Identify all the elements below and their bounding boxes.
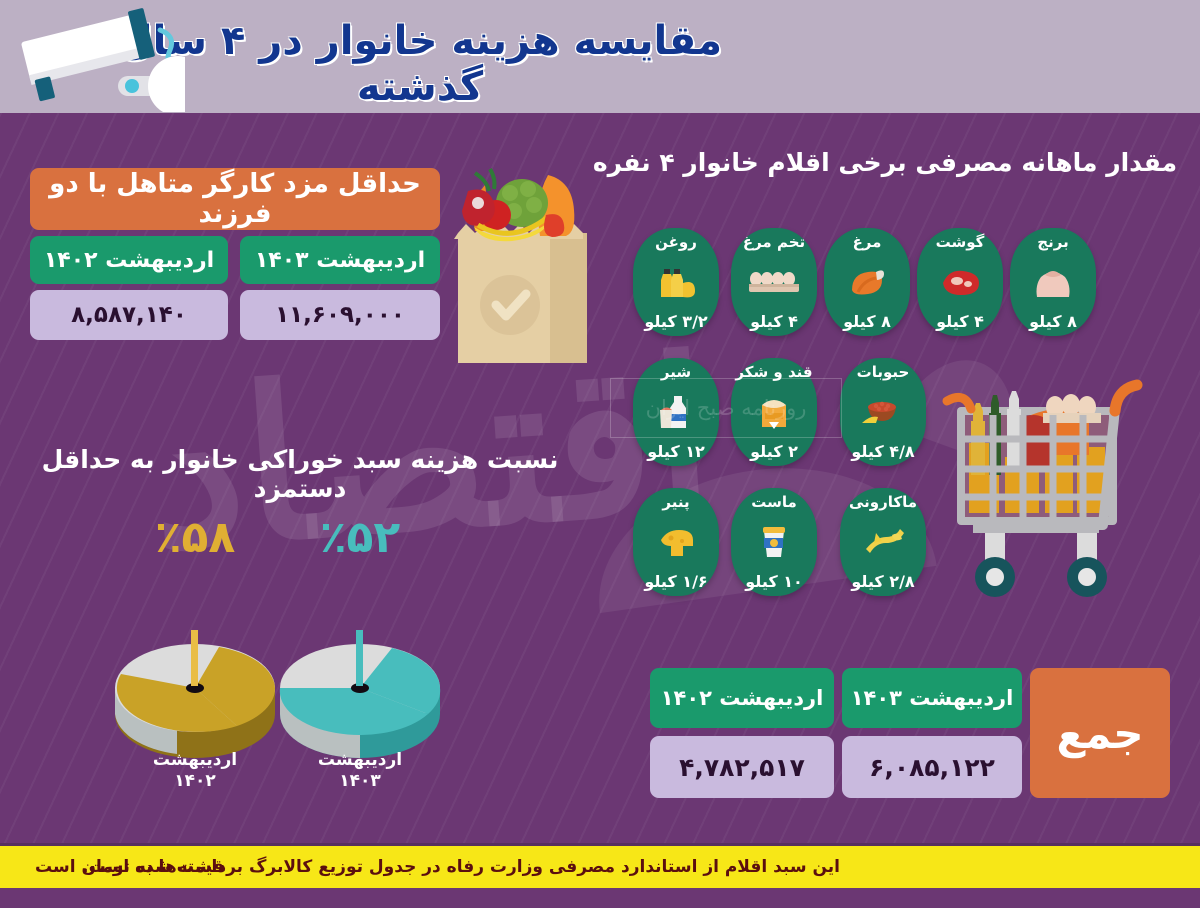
item-bubble-rice: برنج ۸ کیلو [1010,228,1096,336]
item-name: پنیر [662,495,689,510]
ratio-section-title: نسبت هزینه سبد خوراکی خانوار به حداقل دس… [20,445,580,503]
item-bubble-yogurt: ماست ۱۰ کیلو [731,488,817,596]
item-name: ماست [751,495,797,510]
totals-value-1403: ۶,۰۸۵,۱۲۲ [842,736,1022,798]
minimum-wage-panel: حداقل مزد کارگر متاهل با دو فرزند اردیبه… [30,168,440,348]
pie-label-month: اردیبهشت [318,750,402,770]
egg-carton-icon [733,250,815,314]
item-bubble-sugar: قند و شکر ۲ کیلو [731,358,817,466]
security-camera-icon [10,2,185,112]
item-qty: ۱/۶ کیلو [644,574,707,590]
pie-graphic-1403 [272,630,448,760]
totals-month-1402: اردیبهشت ۱۴۰۲ [650,668,834,728]
red-meat-icon [919,250,1001,314]
item-name: ماکارونی [849,495,917,510]
footer-currency-note: قیمت‌ها به تومان است [35,857,224,877]
item-qty: ۴ کیلو [750,314,798,330]
item-name: روغن [655,235,697,250]
cheese-icon [635,510,717,574]
pasta-icon [842,510,924,574]
totals-title: جمع [1030,668,1170,798]
wage-value-1402: ۸,۵۸۷,۱۴۰ [30,290,228,340]
grocery-bag-illustration [430,155,615,370]
item-qty: ۴/۸ کیلو [851,444,914,460]
items-section-title: مقدار ماهانه مصرفی برخی اقلام خانوار ۴ ن… [590,148,1180,177]
cooking-oil-icon [635,250,717,314]
wage-value-1403: ۱۱,۶۰۹,۰۰۰ [240,290,440,340]
pie-label-year: ۱۴۰۳ [339,771,381,791]
item-qty: ۳/۲ کیلو [644,314,707,330]
pie-graphic-1402 [107,630,283,760]
rice-sack-icon [1012,250,1094,314]
totals-value-1402: ۴,۷۸۲,۵۱۷ [650,736,834,798]
footer-bar: این سبد اقلام از استاندارد مصرفی وزارت ر… [0,843,1200,894]
wage-month-1402: اردیبهشت ۱۴۰۲ [30,236,228,284]
totals-month-1403: اردیبهشت ۱۴۰۳ [842,668,1022,728]
pie-label-1402: اردیبهشت ۱۴۰۲ [95,750,295,793]
item-name: برنج [1037,235,1068,250]
wage-panel-title: حداقل مزد کارگر متاهل با دو فرزند [30,168,440,230]
item-qty: ۸ کیلو [843,314,891,330]
pie-label-year: ۱۴۰۲ [174,771,216,791]
item-bubble-pasta: ماکارونی ۲/۸ کیلو [840,488,926,596]
item-bubble-oil: روغن ۳/۲ کیلو [633,228,719,336]
item-name: قند و شکر [735,365,812,380]
chicken-icon [826,250,908,314]
item-bubble-meat: گوشت ۴ کیلو [917,228,1003,336]
page-title: مقایسه هزینه خانوار در ۴ سال گذشته [110,18,730,110]
item-name: حبوبات [857,365,910,380]
yogurt-cup-icon [733,510,815,574]
footer-bottom-strip [0,888,1200,908]
pie-chart-1402: ٪۵۸ اردیبهشت ۱۴۰۲ [95,512,295,802]
item-name: مرغ [853,235,882,250]
item-qty: ۱۲ کیلو [647,444,705,460]
shopping-cart-illustration [935,365,1160,605]
item-qty: ۲ کیلو [750,444,798,460]
item-bubble-legumes: حبوبات ۴/۸ کیلو [840,358,926,466]
item-bubble-chicken: مرغ ۸ کیلو [824,228,910,336]
pie-label-month: اردیبهشت [153,750,237,770]
page-header: مقایسه هزینه خانوار در ۴ سال گذشته [0,0,1200,117]
item-name: گوشت [936,235,985,250]
item-bubble-milk: شیر ۱۲ کیلو [633,358,719,466]
item-bubble-cheese: پنیر ۱/۶ کیلو [633,488,719,596]
item-name: تخم مرغ [743,235,805,250]
item-name: شیر [661,365,691,380]
legumes-bowl-icon [842,380,924,444]
item-qty: ۸ کیلو [1029,314,1077,330]
sugar-bag-icon [733,380,815,444]
item-qty: ۱۰ کیلو [745,574,803,590]
infographic-canvas: مقایسه هزینه خانوار در ۴ سال گذشته اقتصا… [0,0,1200,908]
item-bubble-eggs: تخم مرغ ۴ کیلو [731,228,817,336]
wage-month-1403: اردیبهشت ۱۴۰۳ [240,236,440,284]
pie-percent-1402: ٪۵۸ [95,512,295,563]
item-qty: ۲/۸ کیلو [851,574,914,590]
totals-panel: جمع اردیبهشت ۱۴۰۳ اردیبهشت ۱۴۰۲ ۶,۰۸۵,۱۲… [650,668,1170,800]
item-qty: ۴ کیلو [936,314,984,330]
milk-bottle-icon [635,380,717,444]
